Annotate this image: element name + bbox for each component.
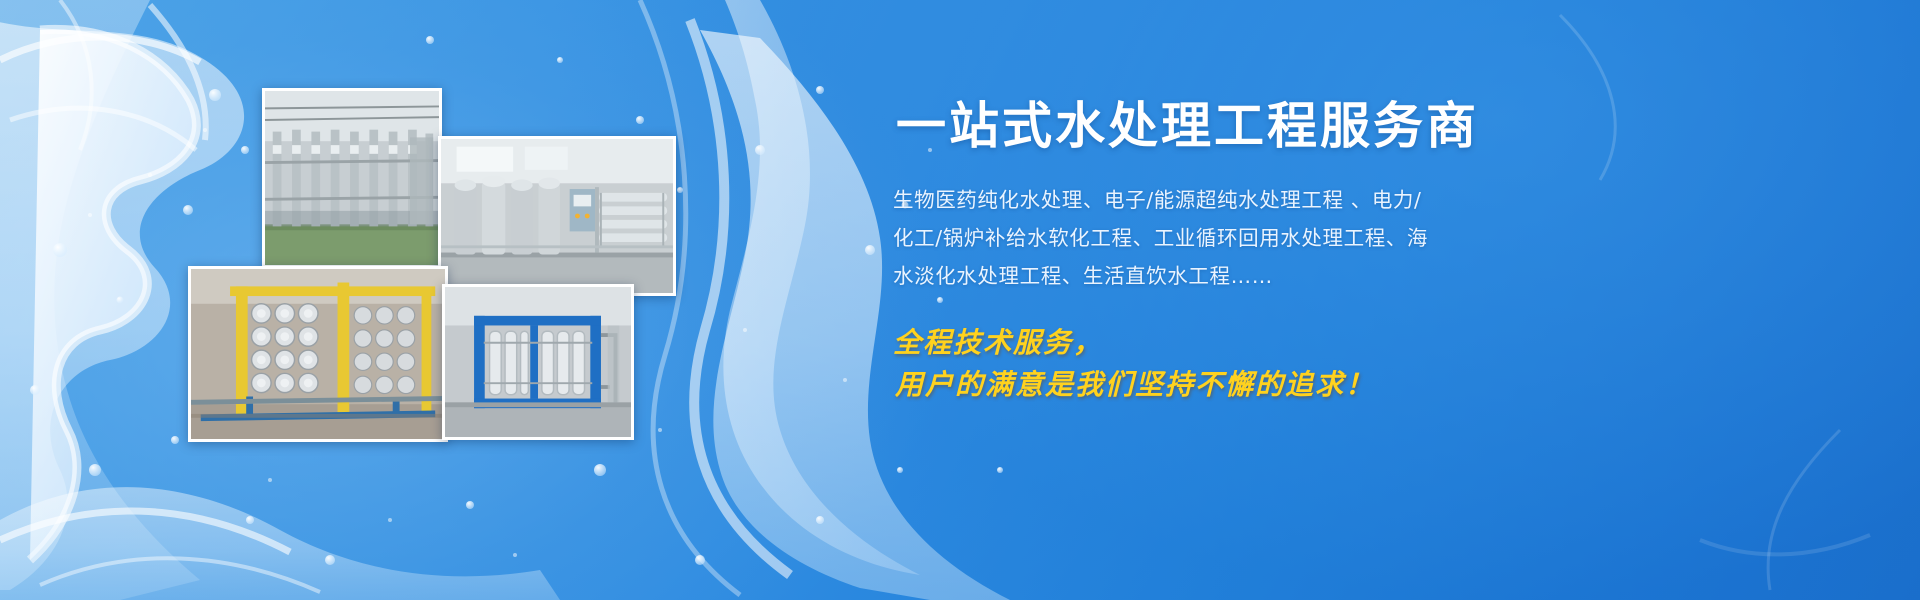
service-description: 生物医药纯化水处理、电子/能源超纯水处理工程 、电力/ 化工/锅炉补给水软化工程… <box>893 182 1473 296</box>
water-treatment-hero-banner: 一站式水处理工程服务商 生物医药纯化水处理、电子/能源超纯水处理工程 、电力/ … <box>0 0 1920 600</box>
slogan-line-1: 全程技术服务， <box>893 322 1893 365</box>
photo-uf-membrane-skid <box>262 88 442 268</box>
photo-yellow-ro-membrane-housings <box>188 266 448 442</box>
page-title: 一站式水处理工程服务商 <box>893 98 1893 154</box>
description-line-1: 生物医药纯化水处理、电子/能源超纯水处理工程 、电力/ <box>893 182 1473 220</box>
slogan: 全程技术服务， 用户的满意是我们坚持不懈的追求！ <box>893 322 1893 407</box>
photo-ro-water-treatment-tanks <box>438 136 676 296</box>
description-line-3: 水淡化水处理工程、生活直饮水工程…… <box>893 258 1473 296</box>
description-line-2: 化工/锅炉补给水软化工程、工业循环回用水处理工程、海 <box>893 220 1473 258</box>
photo-collage <box>180 78 700 448</box>
slogan-line-2: 用户的满意是我们坚持不懈的追求！ <box>893 364 1893 407</box>
photo-blue-frame-filter-unit <box>442 284 634 440</box>
hero-text-block: 一站式水处理工程服务商 生物医药纯化水处理、电子/能源超纯水处理工程 、电力/ … <box>893 98 1893 407</box>
